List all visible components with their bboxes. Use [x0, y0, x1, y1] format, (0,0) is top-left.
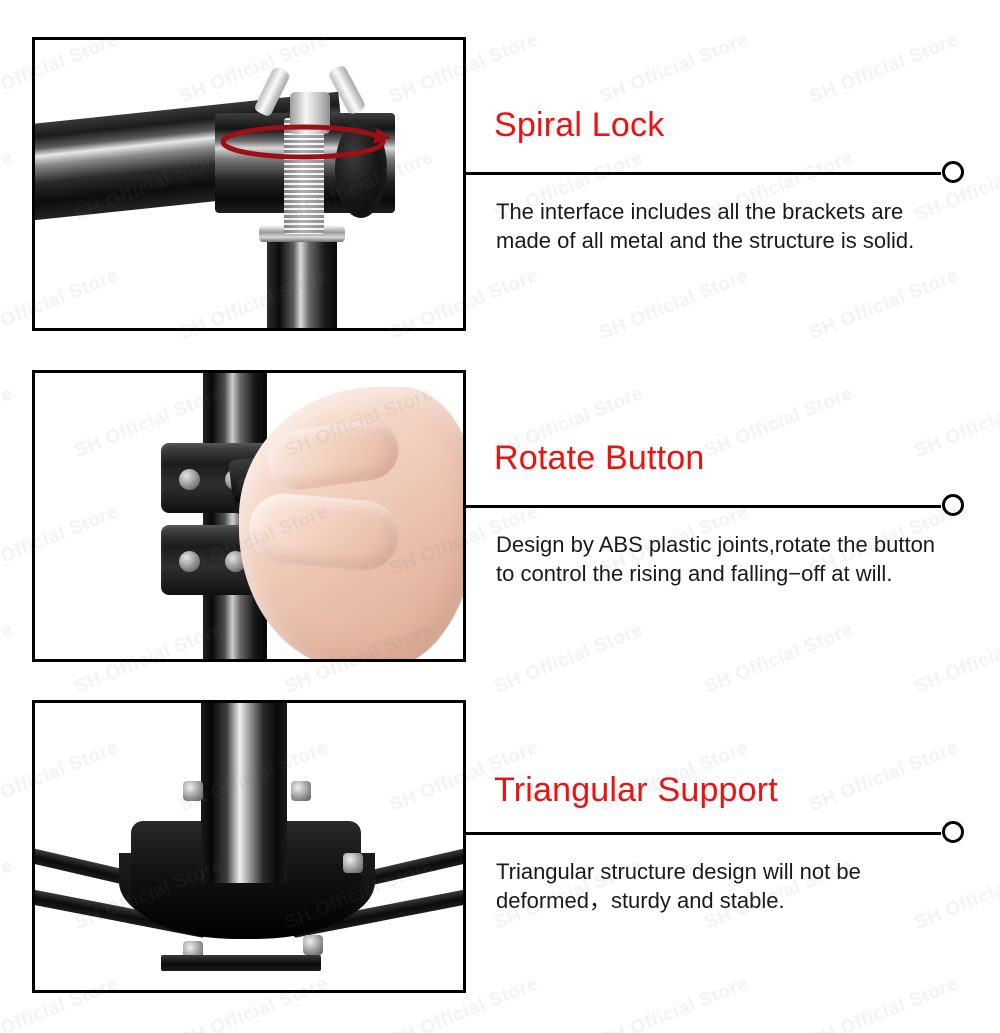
- feature-1-body: The interface includes all the brackets …: [496, 197, 958, 255]
- rotation-arrow-icon: [215, 112, 395, 168]
- tripod-leg-center: [161, 955, 321, 971]
- watermark-text: SH Official Store: [807, 973, 962, 1033]
- watermark-text: SH Official Store: [0, 147, 17, 227]
- watermark-text: SH Official Store: [807, 265, 962, 345]
- infographic-page: Spiral Lock The interface includes all t…: [0, 0, 1000, 1033]
- hub-bolt: [183, 781, 203, 801]
- connector-line: [466, 832, 941, 835]
- hub-bolt: [291, 781, 311, 801]
- feature-3-connector: [466, 821, 964, 845]
- spiral-lock-wing-nut-photo: [32, 37, 466, 331]
- hub-bolt: [303, 935, 323, 955]
- feature-2-connector: [466, 494, 964, 518]
- watermark-text: SH Official Store: [807, 29, 962, 109]
- watermark-text: SH Official Store: [597, 265, 752, 345]
- connector-line: [466, 172, 941, 175]
- feature-1-caption: Spiral Lock: [494, 105, 964, 145]
- feature-1-connector: [466, 161, 964, 185]
- watermark-text: SH Official Store: [912, 619, 1000, 699]
- feature-2-body: Design by ABS plastic joints,rotate the …: [496, 530, 958, 588]
- feature-2-title: Rotate Button: [494, 438, 964, 478]
- photo-2-scene: [35, 373, 463, 659]
- watermark-text: SH Official Store: [597, 973, 752, 1033]
- watermark-text: SH Official Store: [597, 29, 752, 109]
- watermark-text: SH Official Store: [492, 619, 647, 699]
- feature-3-body: Triangular structure design will not be …: [496, 857, 958, 915]
- feature-1-title: Spiral Lock: [494, 105, 964, 145]
- connector-endpoint-circle: [942, 821, 964, 843]
- watermark-text: SH Official Store: [0, 855, 17, 935]
- connector-endpoint-circle: [942, 494, 964, 516]
- feature-3-title: Triangular Support: [494, 770, 964, 810]
- connector-line: [466, 505, 941, 508]
- clamp-bolt: [179, 551, 200, 572]
- connector-endpoint-circle: [942, 161, 964, 183]
- photo-1-scene: [35, 40, 463, 328]
- watermark-text: SH Official Store: [702, 619, 857, 699]
- watermark-text: SH Official Store: [0, 383, 17, 463]
- vertical-tube: [267, 235, 337, 331]
- center-column-tube: [201, 700, 287, 883]
- clamp-bolt: [179, 469, 200, 490]
- hub-bolt: [343, 853, 363, 873]
- feature-3-caption: Triangular Support: [494, 770, 964, 810]
- watermark-text: SH Official Store: [0, 619, 17, 699]
- feature-2-caption: Rotate Button: [494, 438, 964, 478]
- triangular-support-base-photo: [32, 700, 466, 993]
- rotate-button-clamp-photo: [32, 370, 466, 662]
- photo-3-scene: [35, 703, 463, 990]
